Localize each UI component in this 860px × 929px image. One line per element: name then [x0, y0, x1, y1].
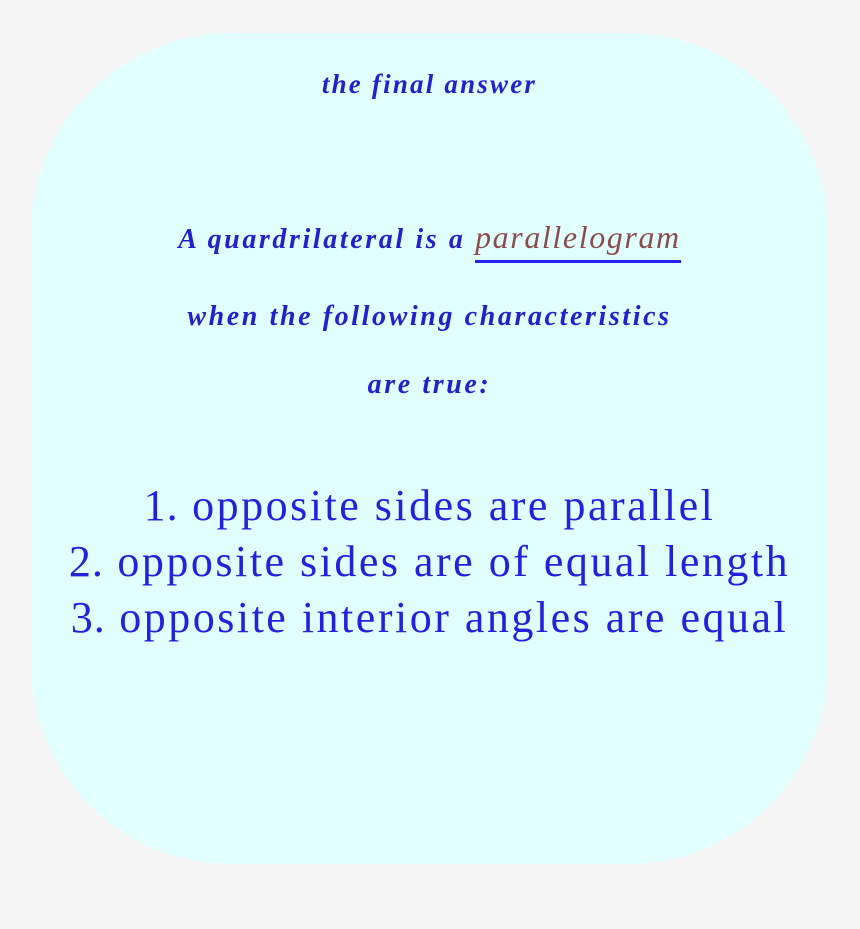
list-item-number: 2. [69, 537, 104, 586]
definition-line-2: when the following characteristics [31, 303, 828, 331]
answer-card: the final answer A quardrilateral is a p… [31, 33, 828, 864]
list-item: 1. opposite sides are parallel [31, 478, 828, 534]
parallelogram-term: parallelogram [475, 221, 681, 263]
list-item-label: opposite interior angles are equal [119, 593, 788, 642]
page-root: the final answer A quardrilateral is a p… [0, 0, 860, 929]
list-item: 3. opposite interior angles are equal [31, 590, 828, 646]
definition-line-1-prefix: A quardrilateral is a [178, 224, 465, 255]
list-item-label: opposite sides are parallel [192, 481, 715, 530]
definition-block: A quardrilateral is a parallelogram when… [31, 221, 828, 399]
answer-card-content: the final answer A quardrilateral is a p… [31, 33, 828, 864]
definition-line-3: are true: [31, 371, 828, 399]
page-title: the final answer [31, 69, 828, 100]
characteristics-list: 1. opposite sides are parallel 2. opposi… [31, 478, 828, 646]
list-item-number: 1. [144, 481, 179, 530]
definition-line-1: A quardrilateral is a parallelogram [31, 221, 828, 263]
list-item: 2. opposite sides are of equal length [31, 534, 828, 590]
list-item-label: opposite sides are of equal length [117, 537, 790, 586]
list-item-number: 3. [71, 593, 106, 642]
